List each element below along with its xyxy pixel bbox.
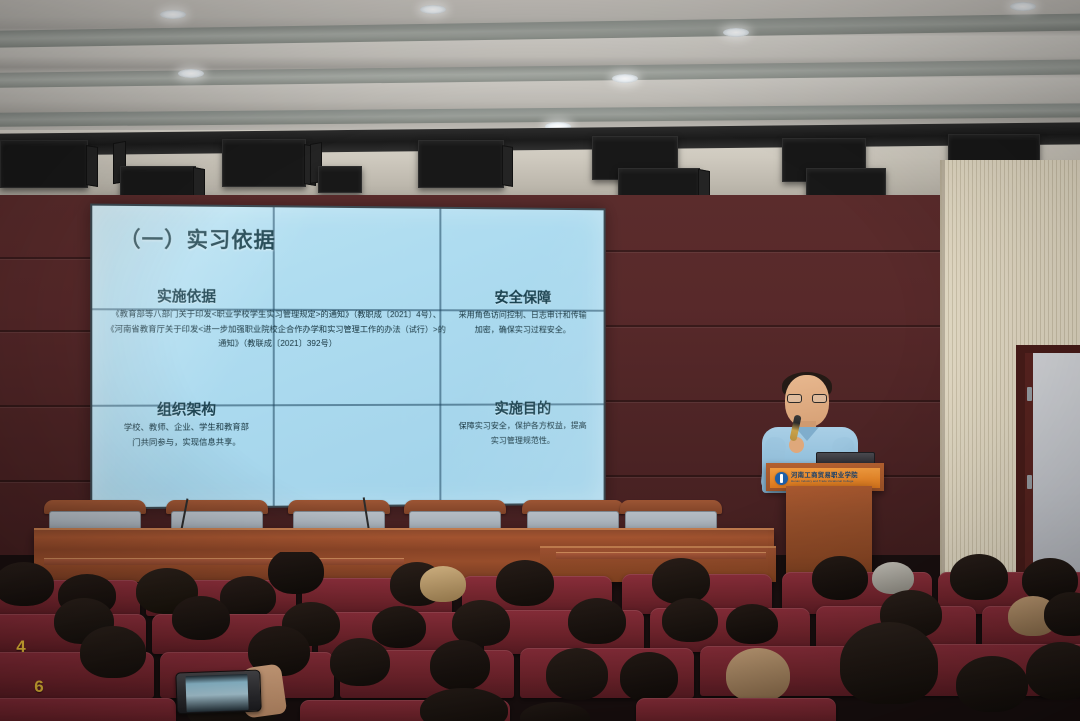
- audience-head: [0, 562, 54, 606]
- exit-door[interactable]: [1033, 353, 1080, 585]
- quadrant-heading: 实施目的: [440, 397, 604, 418]
- lecture-hall-scene: （一）实习依据 实施依据 《教育部等八部门关于印发<职业学校学生实习管理规定>的…: [0, 0, 1080, 721]
- audience-head: [652, 558, 710, 604]
- downlight: [160, 10, 186, 19]
- audience-head: [1026, 642, 1080, 700]
- audience-head-light: [726, 648, 790, 702]
- quadrant-body: 采用角色访问控制、日志审计和传输加密，确保实习过程安全。: [448, 308, 597, 337]
- stage-light-fixture: [806, 168, 886, 198]
- audience-head: [812, 556, 868, 600]
- seat-row-rail: [556, 552, 766, 559]
- barn-door: [86, 145, 98, 187]
- audience-area: 4 6: [0, 552, 1080, 721]
- audience-seat: [636, 698, 836, 721]
- door-hinge: [1027, 475, 1032, 489]
- phone-screen: [185, 674, 248, 712]
- wall-panel-seam: [606, 250, 966, 252]
- quadrant-body: 保障实习安全，保护各方权益，提高实习管理规范性。: [449, 419, 596, 449]
- stage-light-fixture: [418, 140, 504, 188]
- audience-head: [80, 626, 146, 678]
- wall-panel-seam: [0, 480, 100, 482]
- slide-quadrant-implementation-basis: 实施依据 《教育部等八部门关于印发<职业学校学生实习管理规定>的通知》（教职成〔…: [98, 285, 273, 286]
- quadrant-body: 学校、教师、企业、学生和教育部门共同参与，实现信息共享。: [115, 420, 258, 450]
- ceiling-beam: [0, 13, 1080, 48]
- audience-head: [546, 648, 608, 700]
- downlight: [420, 5, 446, 14]
- audience-head: [496, 560, 554, 606]
- stage-light-fixture: [0, 140, 88, 188]
- audience-seat: [0, 698, 176, 721]
- audience-head: [726, 604, 778, 644]
- audience-head: [268, 552, 324, 594]
- glasses-lens: [812, 394, 827, 403]
- audience-head: [620, 652, 678, 702]
- downlight: [723, 28, 749, 37]
- audience-head: [568, 598, 626, 644]
- wall-panel-seam: [0, 405, 100, 407]
- projection-screen: （一）实习依据 实施依据 《教育部等八部门关于印发<职业学校学生实习管理规定>的…: [90, 204, 605, 510]
- wall-panel-seam: [0, 257, 100, 259]
- barn-door: [502, 145, 513, 187]
- ceiling-beam: [0, 59, 1080, 88]
- audience-head: [330, 638, 390, 686]
- audience-head: [950, 554, 1008, 600]
- wall-panel-seam: [0, 330, 100, 332]
- ceiling: [0, 0, 1080, 140]
- audience-head: [520, 702, 590, 721]
- downlight: [178, 69, 204, 78]
- audience-head: [172, 596, 230, 640]
- podium-institution-name-en: Henan Industry and Trade Vocational Coll…: [791, 480, 858, 483]
- downlight: [612, 74, 638, 83]
- downlight: [1010, 2, 1036, 11]
- college-logo-icon: [775, 472, 788, 485]
- glasses-icon: [787, 394, 827, 403]
- glasses-lens: [787, 394, 802, 403]
- audience-head: [662, 598, 718, 642]
- audience-head: [956, 656, 1028, 712]
- audience-head: [430, 640, 490, 690]
- seat-number: 6: [26, 674, 52, 700]
- wall-panel-seam: [606, 325, 966, 327]
- slide-quadrant-safety-guarantee: 安全保障 采用角色访问控制、日志审计和传输加密，确保实习过程安全。: [440, 286, 604, 287]
- quadrant-heading: 实施依据: [98, 285, 273, 307]
- seat-row-rail: [44, 558, 404, 565]
- quadrant-heading: 安全保障: [440, 286, 604, 307]
- audience-head-blonde: [420, 566, 466, 602]
- quadrant-heading: 组织架构: [98, 398, 273, 420]
- stage-light-fixture: [222, 139, 306, 187]
- audience-head: [372, 606, 426, 648]
- audience-head: [840, 622, 938, 704]
- door-hinge: [1027, 387, 1032, 401]
- slide-title: （一）实习依据: [119, 223, 276, 254]
- stage-light-fixture: [120, 166, 196, 198]
- quadrant-body: 《教育部等八部门关于印发<职业学校学生实习管理规定>的通知》（教职成〔2021〕…: [98, 307, 453, 352]
- stage-light-fixture: [318, 166, 362, 193]
- podium-name-banner: 河南工商贸易职业学院 Henan Industry and Trade Voca…: [770, 468, 880, 488]
- audience-phone[interactable]: [175, 670, 261, 715]
- screen-panel-divider: [439, 209, 441, 504]
